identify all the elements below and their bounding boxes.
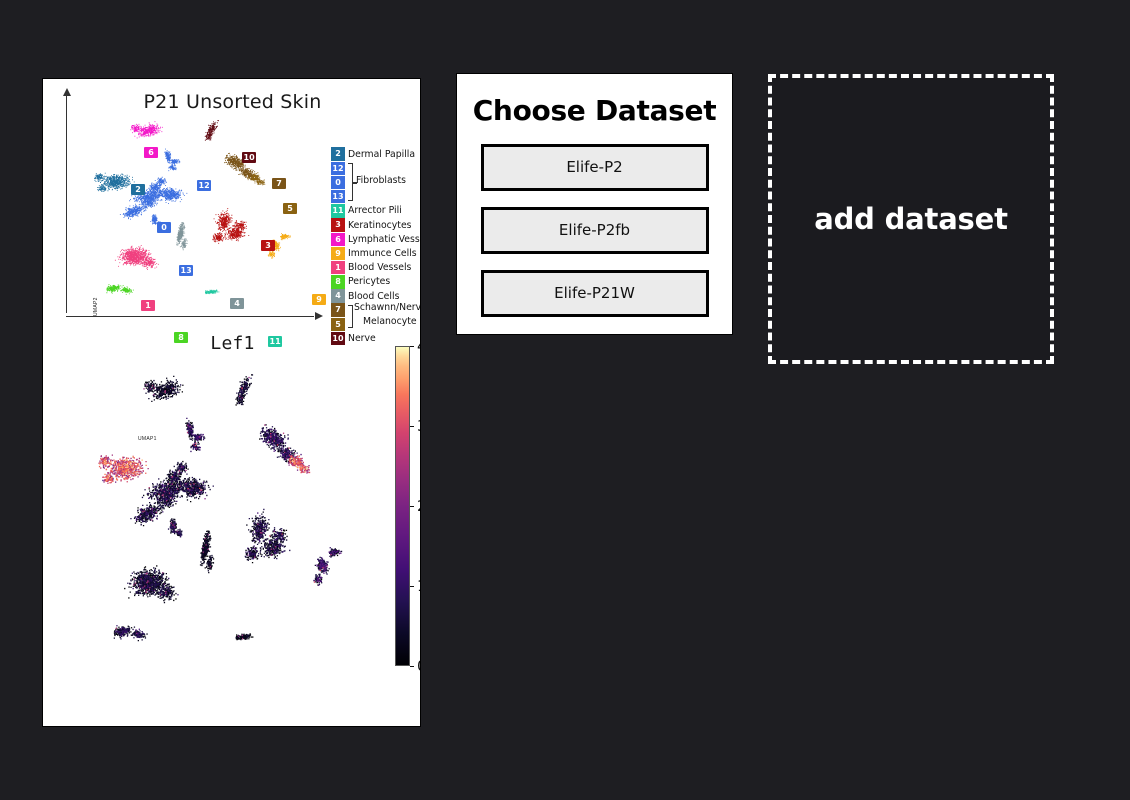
dataset-button-list: Elife-P2Elife-P2fbElife-P21W [457,144,732,317]
colorbar-tick-0 [410,666,414,667]
legend-swatch-1: 1 [331,261,345,274]
legend-swatch-6: 6 [331,233,345,246]
cluster-chip-7: 7 [272,178,286,189]
cluster-chip-13: 13 [179,265,193,276]
legend-swatch-4: 4 [331,289,345,302]
legend-row-6: 6Lymphatic Vessels [331,232,421,246]
cluster-chip-2: 2 [131,184,145,195]
legend-label-schwann-line1: Schawnn/Nerve/ [354,302,421,313]
cluster-chip-10: 10 [242,152,256,163]
legend-swatch-11: 11 [331,204,345,217]
cluster-chip-12: 12 [197,180,211,191]
legend-swatch-3: 3 [331,218,345,231]
dataset-button-elife-p21w[interactable]: Elife-P21W [481,270,709,317]
dataset-button-elife-p2fb[interactable]: Elife-P2fb [481,207,709,254]
colorbar-tick-label-3: 3 [417,417,421,435]
legend-row-2: 2Dermal Papilla [331,147,421,161]
legend-swatch-0: 0 [331,176,345,189]
legend-row-1: 1Blood Vessels [331,261,421,275]
choose-dataset-title: Choose Dataset [457,94,732,127]
colorbar-gradient [395,346,410,666]
umap-x-axis-arrow-icon [315,312,323,320]
legend-label-schwann-line2: Melanocyte [363,316,417,327]
legend-bracket-schwann [348,305,353,328]
cluster-chip-5: 5 [283,203,297,214]
legend-label-1: Blood Vessels [348,262,411,273]
colorbar-tick-4 [410,346,414,347]
cluster-chip-1: 1 [141,300,155,311]
cluster-chip-0: 0 [157,222,171,233]
colorbar-tick-label-1: 1 [417,577,421,595]
umap-cluster-plot: P21 Unsorted Skin UMAP2 UMAP1 6 10 2 12 … [43,91,421,331]
choose-dataset-card: Choose Dataset Elife-P2Elife-P2fbElife-P… [456,73,733,335]
legend-row-4: 4Blood Cells [331,289,421,303]
cluster-chip-6: 6 [144,147,158,158]
legend-row-3: 3Keratinocytes [331,218,421,232]
feature-scatter-points [73,341,373,671]
legend-row-11: 11Arrector Pili [331,204,421,218]
colorbar-tick-label-2: 2 [417,497,421,515]
dataset-button-elife-p2[interactable]: Elife-P2 [481,144,709,191]
gene-feature-plot: Lef1 43210 [43,333,421,688]
legend-swatch-9: 9 [331,247,345,260]
colorbar-tick-label-0: 0 [417,657,421,675]
legend-label-6: Lymphatic Vessels [348,234,421,245]
colorbar-tick-label-4: 4 [417,337,421,355]
umap-axes [66,95,316,317]
colorbar-tick-3 [410,426,414,427]
dataset-visualization-card[interactable]: P21 Unsorted Skin UMAP2 UMAP1 6 10 2 12 … [42,78,421,727]
legend-swatch-2: 2 [331,147,345,160]
legend-label-3: Keratinocytes [348,220,412,231]
umap-legend: 2Dermal Papilla12013Fibroblasts11Arrecto… [331,147,421,346]
colorbar-tick-2 [410,506,414,507]
cluster-chip-11: 11 [268,336,282,347]
legend-swatch-7: 7 [331,303,345,316]
legend-group-fibroblasts: 12013Fibroblasts [331,161,421,204]
add-dataset-label: add dataset [814,202,1008,236]
legend-row-9: 9Immunce Cells [331,246,421,260]
cluster-chip-9: 9 [312,294,326,305]
legend-label-11: Arrector Pili [348,205,402,216]
cluster-chip-4: 4 [230,298,244,309]
legend-label-fibroblasts: Fibroblasts [356,175,406,186]
colorbar-tick-1 [410,586,414,587]
cluster-chip-3: 3 [261,240,275,251]
legend-label-8: Pericytes [348,276,390,287]
umap-y-axis-label: UMAP2 [93,297,99,316]
legend-group-schwann-melanocyte: 75Schawnn/Nerve/Melanocyte [331,303,421,331]
legend-swatch-5: 5 [331,318,345,331]
legend-label-2: Dermal Papilla [348,149,415,160]
legend-label-9: Immunce Cells [348,248,417,259]
umap-scatter-points [66,95,316,317]
expression-colorbar: 43210 [395,346,419,666]
cluster-chip-8: 8 [174,332,188,343]
legend-swatch-13: 13 [331,190,345,203]
legend-swatch-12: 12 [331,162,345,175]
legend-swatch-8: 8 [331,275,345,288]
legend-row-8: 8Pericytes [331,275,421,289]
add-dataset-dropzone[interactable]: add dataset [768,74,1054,364]
legend-label-4: Blood Cells [348,291,399,302]
